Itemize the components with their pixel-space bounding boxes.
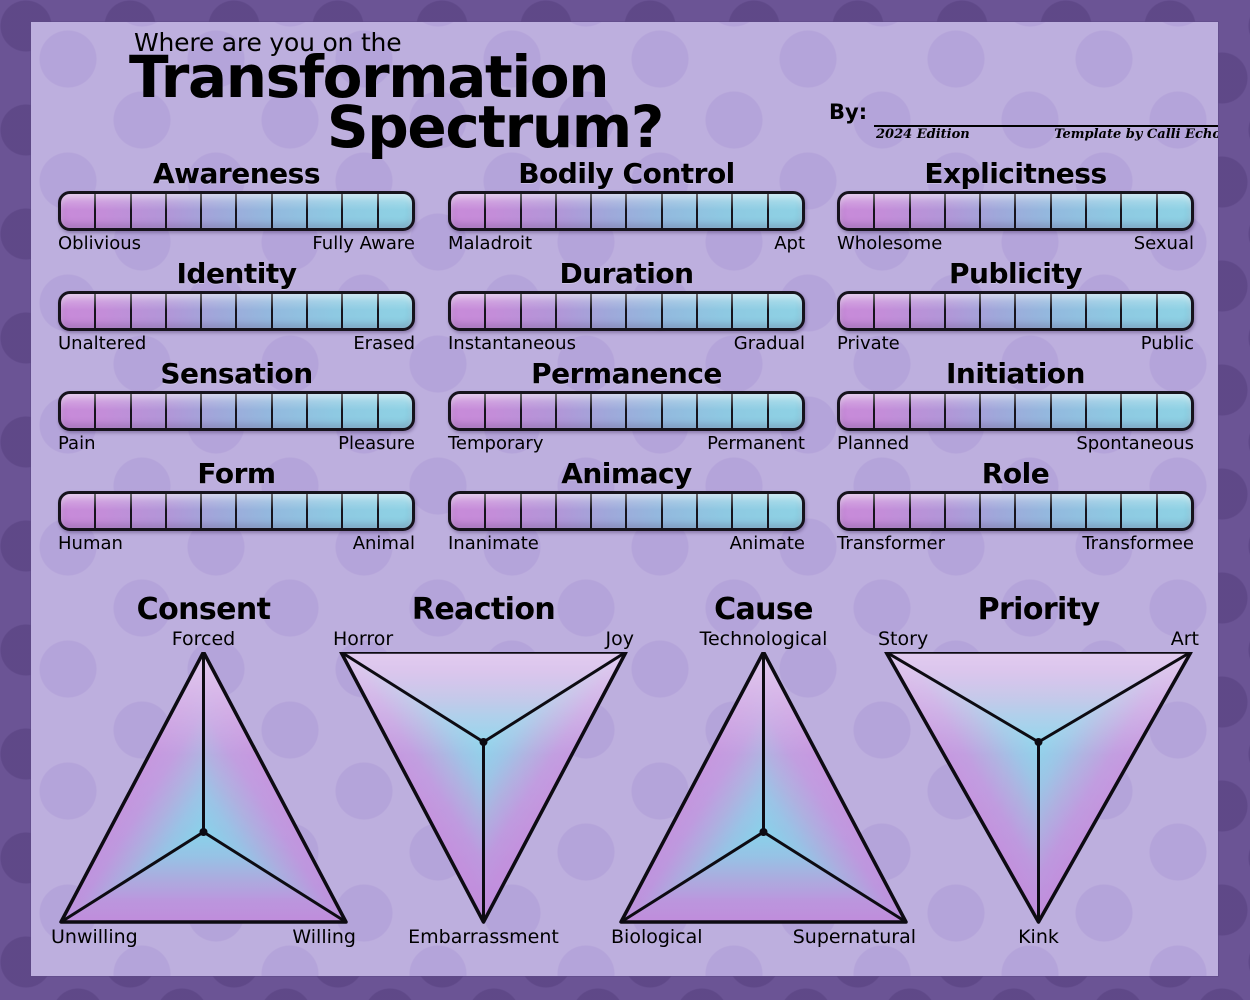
spectrum-title: Sensation <box>58 357 415 390</box>
spectrum-segments <box>61 194 412 228</box>
spectrum-segment[interactable] <box>1052 294 1087 328</box>
spectrum-segment[interactable] <box>981 194 1016 228</box>
spectrum-role: RoleTransformerTransformee <box>837 457 1194 557</box>
spectrum-segment[interactable] <box>840 194 875 228</box>
spectrum-segment[interactable] <box>308 394 343 428</box>
triangle-title: Cause <box>611 592 916 627</box>
spectrum-right-label: Transformee <box>1082 533 1194 554</box>
spectrum-segment[interactable] <box>698 194 733 228</box>
spectrum-right-label: Apt <box>774 233 805 254</box>
spectrum-endpoints: WholesomeSexual <box>837 233 1194 254</box>
spectrum-segment[interactable] <box>1122 194 1157 228</box>
triangle-apex-label: Technological <box>611 628 916 650</box>
spectrum-segment[interactable] <box>1052 194 1087 228</box>
spectrum-initiation: InitiationPlannedSpontaneous <box>837 357 1194 457</box>
spectrum-segment[interactable] <box>769 194 802 228</box>
spectrum-segment[interactable] <box>379 194 412 228</box>
spectrum-left-label: Planned <box>837 433 909 454</box>
spectrum-segments <box>61 294 412 328</box>
spectrum-endpoints: ObliviousFully Aware <box>58 233 415 254</box>
spectrum-segment[interactable] <box>1087 394 1122 428</box>
spectrum-segment[interactable] <box>486 394 521 428</box>
spectrum-segment[interactable] <box>522 194 557 228</box>
spectrum-segment[interactable] <box>769 494 802 528</box>
spectrum-segment[interactable] <box>1087 194 1122 228</box>
spectrum-sensation: SensationPainPleasure <box>58 357 415 457</box>
triangle-priority: PriorityStoryArtKink <box>876 592 1201 952</box>
spectrum-segments <box>61 494 412 528</box>
spectrum-segment[interactable] <box>379 394 412 428</box>
spectrum-segment[interactable] <box>769 294 802 328</box>
spectrum-segment[interactable] <box>96 194 131 228</box>
spectrum-right-label: Sexual <box>1134 233 1194 254</box>
spectrum-segment[interactable] <box>663 394 698 428</box>
triangle-reaction: ReactionHorrorJoyEmbarrassment <box>331 592 636 952</box>
triangle-left-label: Unwilling <box>51 926 138 948</box>
spectrum-segment[interactable] <box>273 194 308 228</box>
spectrum-segment[interactable] <box>733 494 768 528</box>
spectrum-segments <box>451 194 802 228</box>
spectrum-segment[interactable] <box>557 294 592 328</box>
spectrum-segment[interactable] <box>592 294 627 328</box>
spectrum-segment[interactable] <box>167 394 202 428</box>
spectrum-segment[interactable] <box>627 394 662 428</box>
spectrum-bar[interactable] <box>448 391 805 431</box>
spectrum-segment[interactable] <box>237 394 272 428</box>
spectrum-segment[interactable] <box>486 194 521 228</box>
spectrum-bar[interactable] <box>448 291 805 331</box>
spectrum-bar[interactable] <box>448 191 805 231</box>
spectrum-segment[interactable] <box>946 294 981 328</box>
spectrum-identity: IdentityUnalteredErased <box>58 257 415 357</box>
triangle-title: Consent <box>51 592 356 627</box>
triangle-center-dot <box>760 828 768 836</box>
spectrum-segment[interactable] <box>451 494 486 528</box>
spectrum-segment[interactable] <box>557 194 592 228</box>
spectrum-right-label: Gradual <box>734 333 805 354</box>
spectrum-segment[interactable] <box>875 294 910 328</box>
spectrum-left-label: Oblivious <box>58 233 141 254</box>
spectrum-segments <box>61 394 412 428</box>
spectrum-title: Initiation <box>837 357 1194 390</box>
triangle-center-dot <box>200 828 208 836</box>
triangle-left-label: Horror <box>333 628 393 650</box>
spectrum-segments <box>451 394 802 428</box>
spectrum-bar[interactable] <box>837 391 1194 431</box>
spectrum-title: Permanence <box>448 357 805 390</box>
spectrum-left-label: Inanimate <box>448 533 539 554</box>
spectrum-segment[interactable] <box>911 294 946 328</box>
spectrum-segment[interactable] <box>202 194 237 228</box>
spectrum-segment[interactable] <box>911 194 946 228</box>
spectrum-segment[interactable] <box>1122 394 1157 428</box>
spectrum-endpoints: PlannedSpontaneous <box>837 433 1194 454</box>
spectrum-segment[interactable] <box>96 494 131 528</box>
spectrum-left-label: Maladroit <box>448 233 532 254</box>
spectrum-segment[interactable] <box>61 494 96 528</box>
spectrum-segment[interactable] <box>698 394 733 428</box>
spectrum-segment[interactable] <box>1158 394 1191 428</box>
byline-block: By: 2024 Edition Template by Calli Echo <box>801 94 1218 144</box>
spectrum-endpoints: HumanAnimal <box>58 533 415 554</box>
spectrum-segment[interactable] <box>61 394 96 428</box>
spectrum-right-label: Animate <box>730 533 805 554</box>
spectrum-segment[interactable] <box>1016 394 1051 428</box>
spectrum-segment[interactable] <box>1052 494 1087 528</box>
spectrum-segment[interactable] <box>451 294 486 328</box>
triangle-title: Priority <box>876 592 1201 627</box>
spectrum-segment[interactable] <box>522 494 557 528</box>
spectrum-segment[interactable] <box>981 494 1016 528</box>
spectrum-title: Bodily Control <box>448 157 805 190</box>
spectrum-right-label: Erased <box>353 333 415 354</box>
triangle-apex-label: Forced <box>51 628 356 650</box>
spectrum-right-label: Fully Aware <box>312 233 415 254</box>
spectrum-bar[interactable] <box>448 491 805 531</box>
edition-label: 2024 Edition <box>876 127 970 142</box>
spectrum-left-label: Temporary <box>448 433 543 454</box>
triangle-title: Reaction <box>331 592 636 627</box>
spectrum-segment[interactable] <box>875 494 910 528</box>
spectrum-segment[interactable] <box>557 494 592 528</box>
spectrum-endpoints: TransformerTransformee <box>837 533 1194 554</box>
spectrum-segment[interactable] <box>557 394 592 428</box>
spectrum-title: Animacy <box>448 457 805 490</box>
spectrum-left-label: Human <box>58 533 123 554</box>
spectrum-segment[interactable] <box>202 494 237 528</box>
spectrum-segment[interactable] <box>1158 494 1191 528</box>
spectrum-bar[interactable] <box>58 191 415 231</box>
spectrum-segment[interactable] <box>911 494 946 528</box>
spectrum-explicitness: ExplicitnessWholesomeSexual <box>837 157 1194 257</box>
spectrum-bar[interactable] <box>837 491 1194 531</box>
spectrum-segment[interactable] <box>522 394 557 428</box>
spectrum-segment[interactable] <box>946 494 981 528</box>
spectrum-endpoints: TemporaryPermanent <box>448 433 805 454</box>
spectrum-segment[interactable] <box>698 294 733 328</box>
spectrum-segment[interactable] <box>451 194 486 228</box>
triangle-left-label: Story <box>878 628 928 650</box>
spectrum-segment[interactable] <box>1016 294 1051 328</box>
spectrum-left-label: Wholesome <box>837 233 942 254</box>
spectrum-endpoints: MaladroitApt <box>448 233 805 254</box>
spectrum-segment[interactable] <box>1158 194 1191 228</box>
spectrum-segment[interactable] <box>1122 494 1157 528</box>
spectrum-right-label: Public <box>1141 333 1194 354</box>
spectrum-segment[interactable] <box>308 194 343 228</box>
spectrum-segment[interactable] <box>343 194 378 228</box>
spectrum-segment[interactable] <box>875 394 910 428</box>
spectrum-segment[interactable] <box>663 294 698 328</box>
spectrum-title: Explicitness <box>837 157 1194 190</box>
spectrum-segment[interactable] <box>663 194 698 228</box>
spectrum-segment[interactable] <box>1087 294 1122 328</box>
triangle-center-dot <box>1035 738 1043 746</box>
spectrum-segment[interactable] <box>733 294 768 328</box>
spectrum-bodily-control: Bodily ControlMaladroitApt <box>448 157 805 257</box>
spectrum-bar[interactable] <box>58 291 415 331</box>
spectrum-endpoints: PrivatePublic <box>837 333 1194 354</box>
spectrum-left-label: Pain <box>58 433 96 454</box>
spectrum-publicity: PublicityPrivatePublic <box>837 257 1194 357</box>
spectrum-segment[interactable] <box>96 394 131 428</box>
triangle-apex-label: Embarrassment <box>331 926 636 948</box>
spectrum-endpoints: PainPleasure <box>58 433 415 454</box>
spectrum-bar[interactable] <box>58 491 415 531</box>
spectrum-segment[interactable] <box>840 294 875 328</box>
spectrum-segments <box>451 494 802 528</box>
triangle-shape[interactable] <box>331 652 636 928</box>
spectrum-segment[interactable] <box>592 394 627 428</box>
spectrum-segment[interactable] <box>273 394 308 428</box>
spectrum-segment[interactable] <box>132 194 167 228</box>
spectrum-segment[interactable] <box>451 394 486 428</box>
spectrum-segment[interactable] <box>202 294 237 328</box>
triangle-right-label: Art <box>1171 628 1199 650</box>
spectrum-title: Publicity <box>837 257 1194 290</box>
spectrum-segment[interactable] <box>132 494 167 528</box>
spectrum-left-label: Private <box>837 333 900 354</box>
template-credit: Template by Calli Echo <box>1054 127 1218 142</box>
spectrum-segment[interactable] <box>627 294 662 328</box>
triangle-cause: CauseTechnologicalBiologicalSupernatural <box>611 592 916 952</box>
spectrum-right-label: Permanent <box>707 433 805 454</box>
spectrum-segment[interactable] <box>167 194 202 228</box>
spectrum-segment[interactable] <box>308 294 343 328</box>
triangle-apex-label: Kink <box>876 926 1201 948</box>
spectrum-segment[interactable] <box>1087 494 1122 528</box>
spectrum-endpoints: UnalteredErased <box>58 333 415 354</box>
spectrum-segment[interactable] <box>733 194 768 228</box>
spectrum-segment[interactable] <box>981 394 1016 428</box>
spectrum-segment[interactable] <box>61 294 96 328</box>
spectrum-segment[interactable] <box>946 394 981 428</box>
spectrum-segment[interactable] <box>237 194 272 228</box>
spectrum-segment[interactable] <box>592 194 627 228</box>
spectrum-segment[interactable] <box>1158 294 1191 328</box>
spectrum-segment[interactable] <box>911 394 946 428</box>
spectrum-segment[interactable] <box>273 294 308 328</box>
spectrum-segment[interactable] <box>132 394 167 428</box>
page-title: Transformation Spectrum? <box>129 52 749 152</box>
spectrum-segment[interactable] <box>132 294 167 328</box>
spectrum-segment[interactable] <box>1052 394 1087 428</box>
spectrum-segment[interactable] <box>840 494 875 528</box>
spectrum-segment[interactable] <box>627 494 662 528</box>
triangle-shape[interactable] <box>611 652 916 928</box>
spectrum-animacy: AnimacyInanimateAnimate <box>448 457 805 557</box>
spectrum-segment[interactable] <box>308 494 343 528</box>
spectrum-segment[interactable] <box>1016 194 1051 228</box>
spectrum-segment[interactable] <box>875 194 910 228</box>
spectrum-segment[interactable] <box>379 294 412 328</box>
spectrum-bar[interactable] <box>58 391 415 431</box>
spectrum-endpoints: InstantaneousGradual <box>448 333 805 354</box>
spectrum-segment[interactable] <box>486 494 521 528</box>
spectrum-right-label: Animal <box>353 533 415 554</box>
spectrum-segment[interactable] <box>1122 294 1157 328</box>
spectrum-segments <box>840 194 1191 228</box>
spectrum-segment[interactable] <box>343 394 378 428</box>
spectrum-segment[interactable] <box>733 394 768 428</box>
spectrum-segment[interactable] <box>167 494 202 528</box>
spectrum-segments <box>451 294 802 328</box>
triangle-shape[interactable] <box>876 652 1201 928</box>
spectrum-segment[interactable] <box>698 494 733 528</box>
spectrum-segment[interactable] <box>769 394 802 428</box>
spectrum-segment[interactable] <box>981 294 1016 328</box>
spectrum-title: Awareness <box>58 157 415 190</box>
spectrum-title: Duration <box>448 257 805 290</box>
spectrum-segment[interactable] <box>486 294 521 328</box>
triangle-left-label: Biological <box>611 926 703 948</box>
spectrum-duration: DurationInstantaneousGradual <box>448 257 805 357</box>
spectrum-segment[interactable] <box>663 494 698 528</box>
spectrum-segment[interactable] <box>96 294 131 328</box>
spectrum-left-label: Transformer <box>837 533 945 554</box>
spectrum-segments <box>840 394 1191 428</box>
spectrum-segments <box>840 494 1191 528</box>
spectrum-segment[interactable] <box>379 494 412 528</box>
spectrum-form: FormHumanAnimal <box>58 457 415 557</box>
spectrum-segment[interactable] <box>840 394 875 428</box>
triangle-center-dot <box>480 738 488 746</box>
spectrum-segment[interactable] <box>167 294 202 328</box>
spectrum-title: Identity <box>58 257 415 290</box>
spectrum-segment[interactable] <box>343 494 378 528</box>
spectrum-right-label: Pleasure <box>338 433 415 454</box>
spectrum-segment[interactable] <box>343 294 378 328</box>
spectrum-segment[interactable] <box>273 494 308 528</box>
spectrum-title: Role <box>837 457 1194 490</box>
spectrum-right-label: Spontaneous <box>1076 433 1194 454</box>
spectrum-endpoints: InanimateAnimate <box>448 533 805 554</box>
spectrum-segment[interactable] <box>202 394 237 428</box>
poster-canvas: Where are you on the Transformation Spec… <box>0 0 1250 1000</box>
spectrum-segments <box>840 294 1191 328</box>
worksheet-page: Where are you on the Transformation Spec… <box>31 22 1218 976</box>
spectrum-segment[interactable] <box>237 294 272 328</box>
spectrum-permanence: PermanenceTemporaryPermanent <box>448 357 805 457</box>
spectrum-segment[interactable] <box>627 194 662 228</box>
spectrum-left-label: Instantaneous <box>448 333 576 354</box>
page-content: Where are you on the Transformation Spec… <box>31 22 1218 976</box>
spectrum-left-label: Unaltered <box>58 333 146 354</box>
spectrum-segment[interactable] <box>946 194 981 228</box>
spectrum-segment[interactable] <box>237 494 272 528</box>
triangle-consent: ConsentForcedUnwillingWilling <box>51 592 356 952</box>
by-label: By: <box>829 100 867 124</box>
spectrum-bar[interactable] <box>837 291 1194 331</box>
spectrum-segment[interactable] <box>522 294 557 328</box>
triangle-shape[interactable] <box>51 652 356 928</box>
spectrum-segment[interactable] <box>61 194 96 228</box>
spectrum-segment[interactable] <box>592 494 627 528</box>
spectrum-title: Form <box>58 457 415 490</box>
spectrum-awareness: AwarenessObliviousFully Aware <box>58 157 415 257</box>
spectrum-segment[interactable] <box>1016 494 1051 528</box>
spectrum-bar[interactable] <box>837 191 1194 231</box>
